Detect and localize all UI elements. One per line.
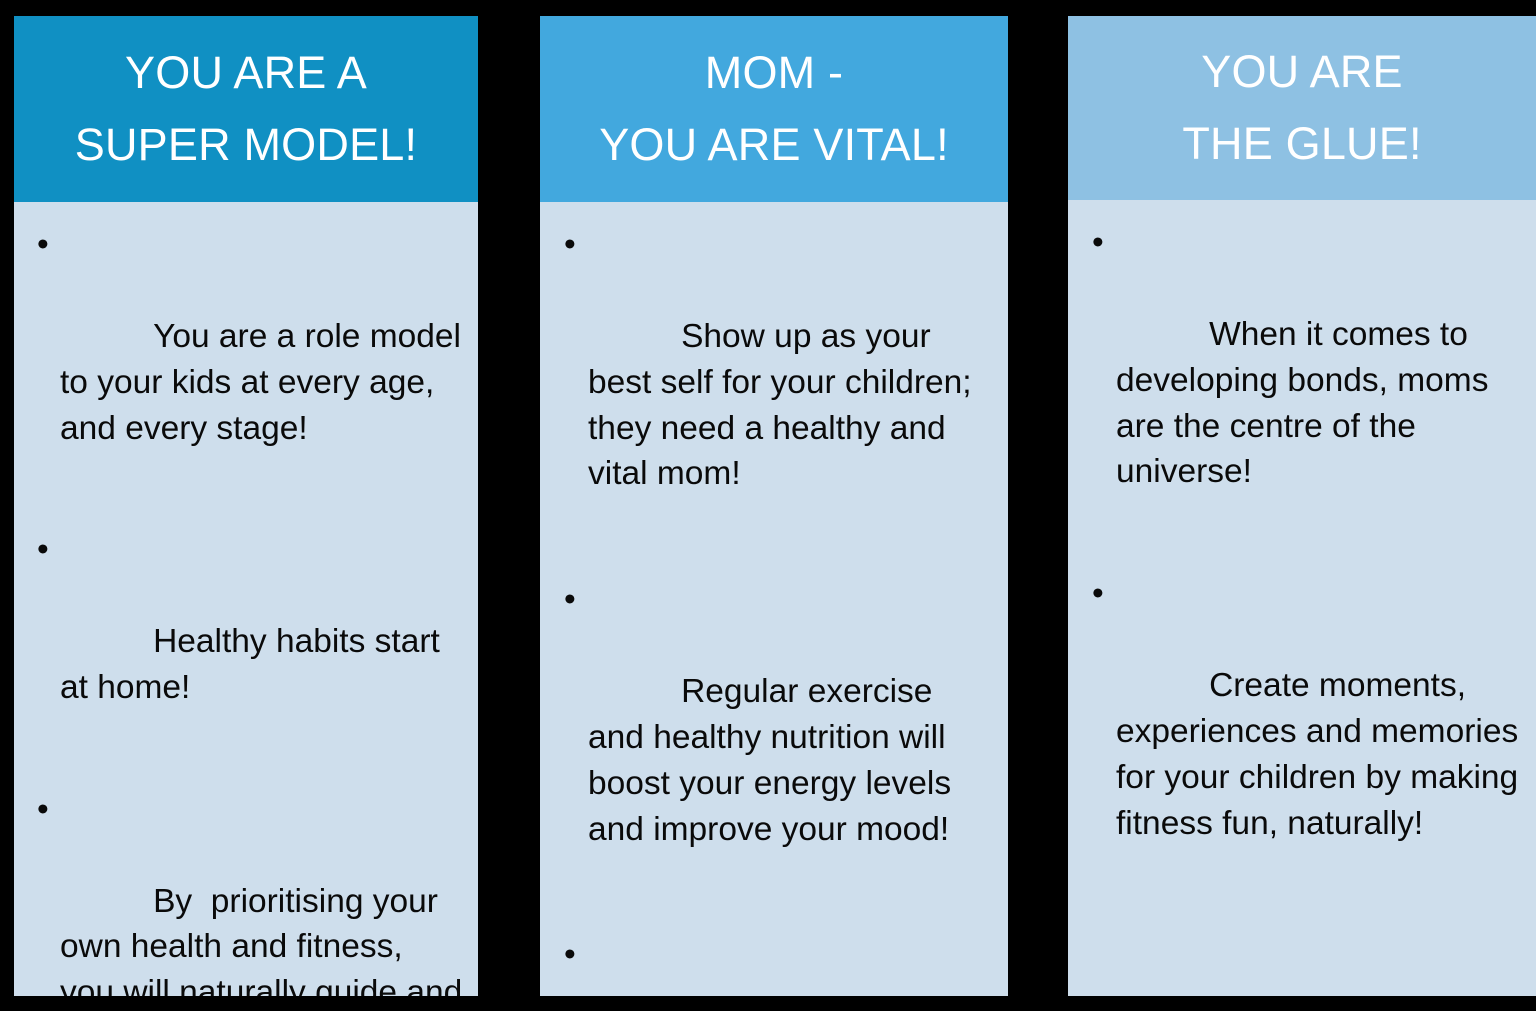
list-item: • Show up as your best self for your chi… [554,222,994,543]
list-item-text: You are a role model to your kids at eve… [60,318,470,447]
list-item-text: Healthy habits start at home! [60,623,449,706]
card-mom-you-are-vital: MOM - YOU ARE VITAL! • Show up as your b… [540,16,1008,996]
bullet-dot-icon: • [37,222,49,268]
list-item: • Create moments, experiences and memori… [1082,571,1522,892]
list-item: • Most importantly, your wellbeing creat… [554,932,994,996]
card-3-header: YOU ARE THE GLUE! [1068,16,1536,200]
card-3-title-line-2: THE GLUE! [1182,121,1421,167]
list-item-text: Show up as your best self for your child… [588,318,981,493]
card-1-body: • You are a role model to your kids at e… [14,202,478,996]
bullet-dot-icon: • [1092,220,1104,266]
card-1-bullet-list: • You are a role model to your kids at e… [28,222,464,996]
card-super-model: YOU ARE A SUPER MODEL! • You are a role … [14,16,478,996]
card-2-title-line-2: YOU ARE VITAL! [599,122,949,168]
bullet-dot-icon: • [564,222,576,268]
three-column-infographic: YOU ARE A SUPER MODEL! • You are a role … [0,0,1536,1011]
card-1-title-line-1: YOU ARE A [125,50,367,96]
card-3-bullet-list: • When it comes to developing bonds, mom… [1082,220,1522,892]
list-item: • Regular exercise and healthy nutrition… [554,577,994,898]
list-item: • You are a role model to your kids at e… [28,222,464,497]
list-item: • Healthy habits start at home! [28,527,464,756]
card-2-body: • Show up as your best self for your chi… [540,202,1008,996]
list-item-text: When it comes to developing bonds, moms … [1116,316,1498,491]
card-1-title-line-2: SUPER MODEL! [75,122,417,168]
card-3-title-line-1: YOU ARE [1201,49,1402,95]
list-item: • By prioritising your own health and fi… [28,787,464,996]
card-you-are-the-glue: YOU ARE THE GLUE! • When it comes to dev… [1068,16,1536,996]
bullet-dot-icon: • [1092,571,1104,617]
list-item-text: Create moments, experiences and memories… [1116,667,1528,842]
bullet-dot-icon: • [564,577,576,623]
bullet-dot-icon: • [37,787,49,833]
list-item-text: By prioritising your own health and fitn… [60,883,472,996]
card-2-header: MOM - YOU ARE VITAL! [540,16,1008,202]
list-item: • When it comes to developing bonds, mom… [1082,220,1522,541]
bullet-dot-icon: • [564,932,576,978]
card-2-bullet-list: • Show up as your best self for your chi… [554,222,994,996]
card-3-body: • When it comes to developing bonds, mom… [1068,200,1536,996]
bullet-dot-icon: • [37,527,49,573]
card-2-title-line-1: MOM - [705,50,843,96]
list-item-text: Regular exercise and healthy nutrition w… [588,673,960,848]
card-1-header: YOU ARE A SUPER MODEL! [14,16,478,202]
